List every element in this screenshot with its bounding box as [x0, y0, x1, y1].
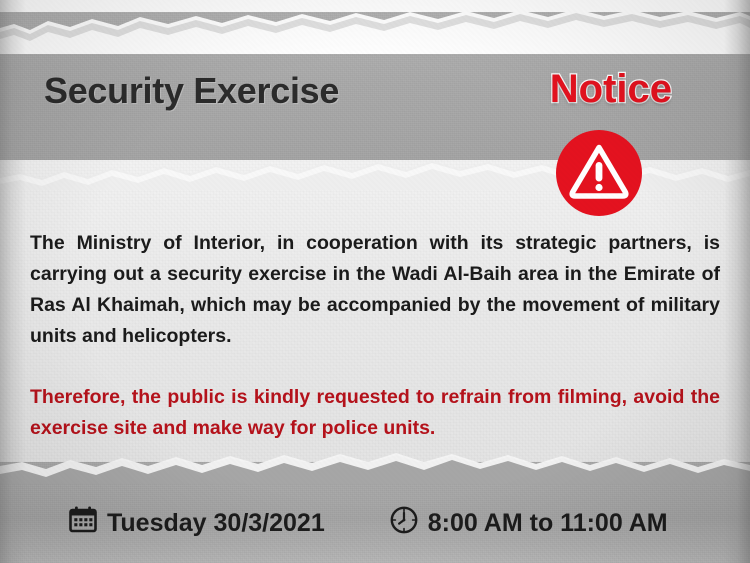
- warning-triangle-icon: [556, 130, 642, 216]
- calendar-icon: [68, 505, 98, 542]
- notice-badge-label: Notice: [550, 67, 672, 112]
- clock-icon: [389, 505, 419, 542]
- notice-body: The Ministry of Interior, in cooperation…: [30, 228, 720, 444]
- page-title: Security Exercise: [44, 70, 339, 112]
- time-text: 8:00 AM to 11:00 AM: [428, 509, 668, 538]
- date-text: Tuesday 30/3/2021: [107, 509, 325, 538]
- date-info: Tuesday 30/3/2021: [68, 505, 325, 542]
- notice-poster: Security Exercise Notice The Ministry of…: [0, 0, 750, 563]
- paragraph-info: The Ministry of Interior, in cooperation…: [30, 228, 720, 352]
- paragraph-request: Therefore, the public is kindly requeste…: [30, 382, 720, 444]
- notice-footer: Tuesday 30/3/2021 8:00 AM to 11:0: [0, 498, 750, 548]
- time-info: 8:00 AM to 11:00 AM: [389, 505, 668, 542]
